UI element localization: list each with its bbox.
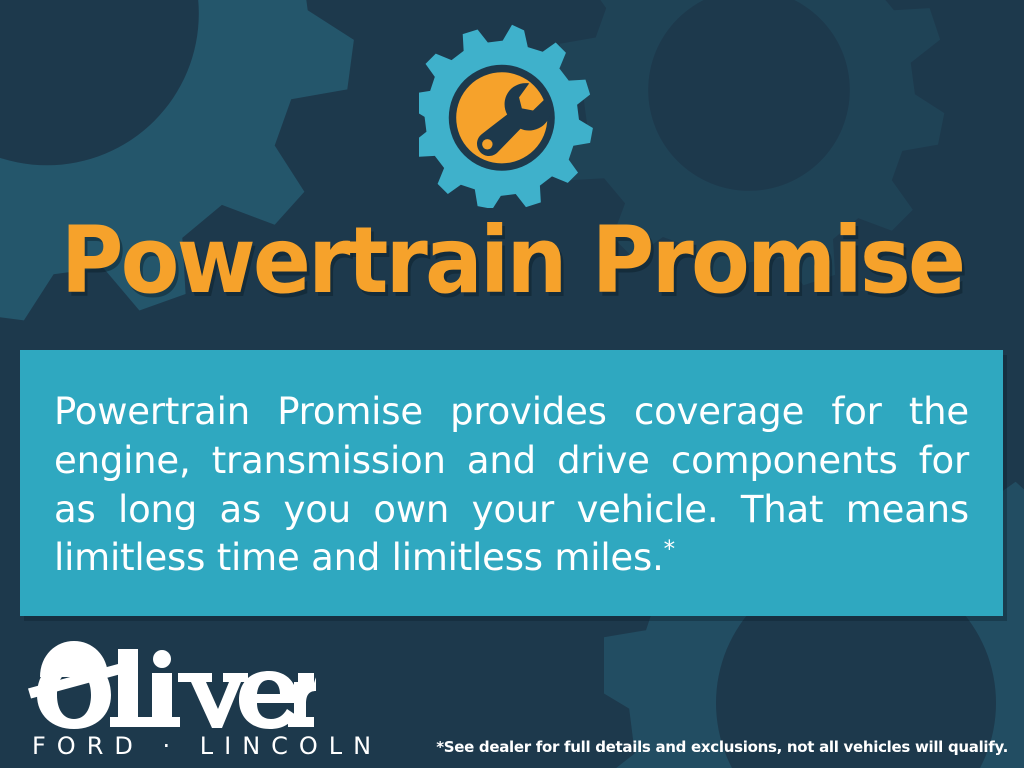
page-title: Powertrain Promise xyxy=(36,215,988,307)
oliver-wordmark-icon xyxy=(26,635,316,731)
logo-subbrands: FORD · LINCOLN xyxy=(32,732,326,760)
promo-poster: Powertrain Promise Powertrain Promise pr… xyxy=(0,0,1024,768)
powertrain-emblem xyxy=(419,22,605,208)
dealer-logo: FORD · LINCOLN xyxy=(26,635,326,760)
disclaimer-text: *See dealer for full details and exclusi… xyxy=(436,738,1008,756)
footnote-marker: * xyxy=(664,537,675,563)
description-panel: Powertrain Promise provides coverage for… xyxy=(20,350,1003,616)
description-body: Powertrain Promise provides coverage for… xyxy=(54,390,969,579)
description-text: Powertrain Promise provides coverage for… xyxy=(54,388,969,583)
